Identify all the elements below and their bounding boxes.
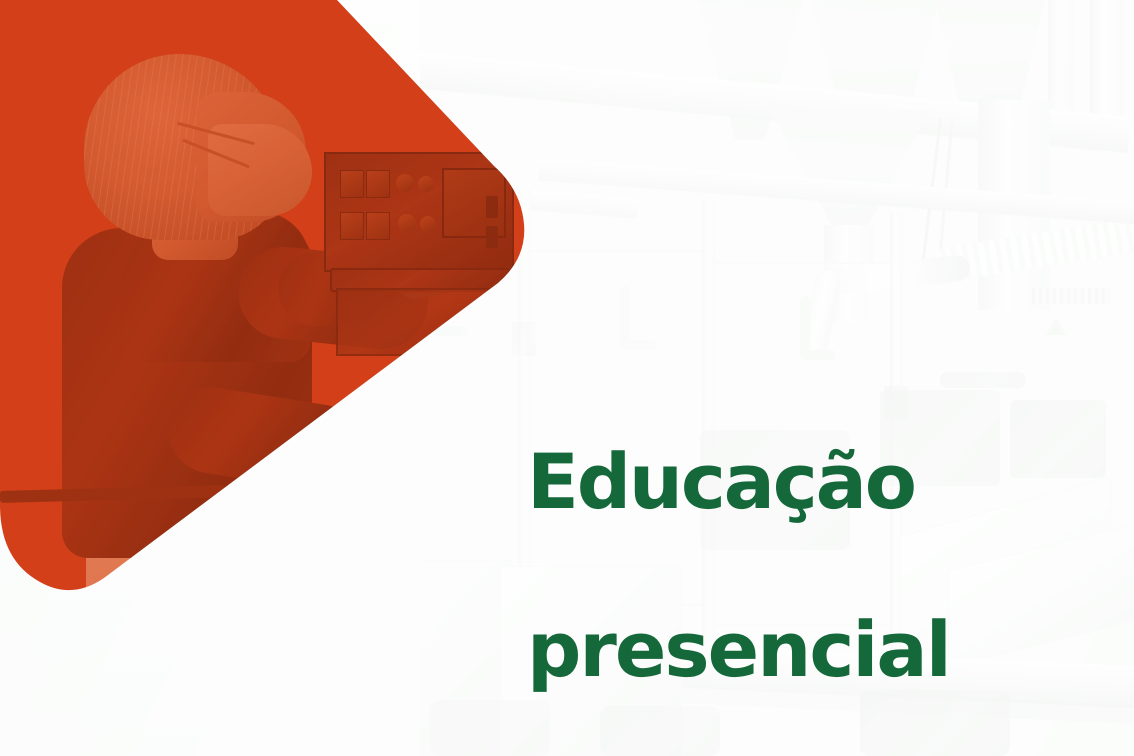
headline-line-2: presencial <box>527 608 950 692</box>
headline: Educação presencial <box>527 356 950 756</box>
promo-banner: Educação presencial <box>0 0 1134 756</box>
headline-line-1: Educação <box>527 440 950 524</box>
